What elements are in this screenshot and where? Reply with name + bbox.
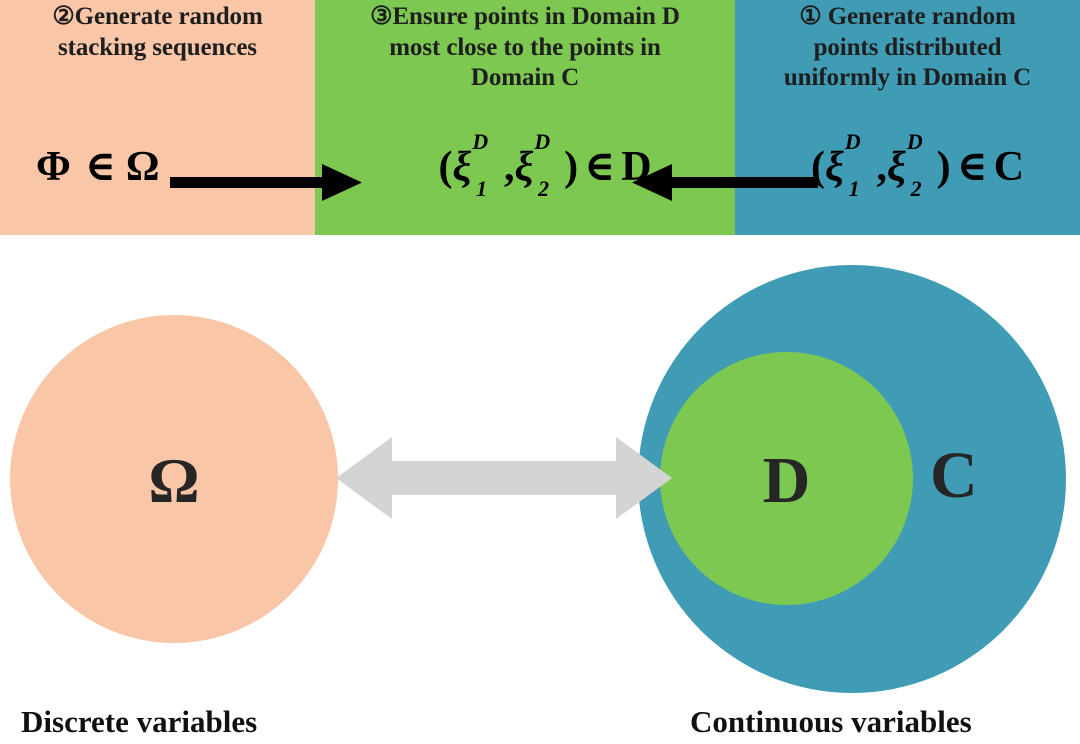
formula-d-xi-2-sub: 2 bbox=[538, 177, 549, 201]
panel-caption-domain-c-line1: ① Generate random bbox=[745, 2, 1070, 33]
circle-d-subdomain: D bbox=[660, 352, 913, 605]
formula-d-xi-2-glyph: ξ bbox=[515, 144, 534, 190]
panel-caption-omega: ②Generate random stacking sequences bbox=[0, 2, 315, 63]
formula-xi-in-c: (ξD1,ξD2)∈C bbox=[735, 146, 1080, 188]
circle-label-d: D bbox=[763, 448, 811, 514]
formula-c-member: ∈ bbox=[957, 144, 988, 190]
formula-c-xi-2-sub: 2 bbox=[911, 177, 922, 201]
panel-caption-domain-d-line3: Domain C bbox=[321, 63, 729, 94]
formula-phi-set: Ω bbox=[126, 144, 160, 190]
formula-c-comma: , bbox=[877, 144, 888, 190]
panel-generate-random-points: ① Generate random points distributed uni… bbox=[735, 0, 1080, 235]
panel-caption-domain-d-line1: ③Ensure points in Domain D bbox=[321, 2, 729, 33]
diagram-canvas: ②Generate random stacking sequences Φ∈Ω … bbox=[0, 0, 1080, 744]
formula-d-comma: , bbox=[504, 144, 515, 190]
formula-d-xi-1: ξD1 bbox=[452, 146, 498, 188]
panel-caption-domain-c-line2: points distributed bbox=[745, 33, 1070, 64]
formula-d-set: D bbox=[621, 144, 651, 190]
formula-xi-in-d: (ξD1,ξD2)∈D bbox=[315, 146, 735, 188]
formula-c-xi-1-sub: 1 bbox=[849, 177, 860, 201]
formula-d-xi-1-glyph: ξ bbox=[452, 144, 471, 190]
formula-c-open-paren: ( bbox=[811, 144, 825, 190]
panel-caption-domain-d-line2: most close to the points in bbox=[321, 33, 729, 64]
formula-d-xi-1-sub: 1 bbox=[476, 177, 487, 201]
panel-caption-domain-d: ③Ensure points in Domain D most close to… bbox=[315, 2, 735, 94]
formula-c-xi-1: ξD1 bbox=[825, 146, 871, 188]
formula-c-xi-2: ξD2 bbox=[887, 146, 933, 188]
formula-d-close-paren: ) bbox=[564, 144, 578, 190]
footer-label-discrete-variables: Discrete variables bbox=[21, 706, 257, 737]
footer-label-continuous-variables: Continuous variables bbox=[690, 706, 972, 737]
panel-caption-domain-c-line3: uniformly in Domain C bbox=[745, 63, 1070, 94]
panel-caption-domain-c: ① Generate random points distributed uni… bbox=[735, 2, 1080, 94]
formula-d-member: ∈ bbox=[584, 144, 615, 190]
panel-generate-stacking-sequences: ②Generate random stacking sequences Φ∈Ω bbox=[0, 0, 315, 235]
formula-phi-in-omega: Φ∈Ω bbox=[0, 146, 315, 188]
formula-d-open-paren: ( bbox=[438, 144, 452, 190]
formula-c-close-paren: ) bbox=[937, 144, 951, 190]
circle-omega-discrete: Ω bbox=[10, 315, 338, 643]
formula-phi-member: ∈ bbox=[85, 144, 116, 190]
formula-d-xi-2-sup: D bbox=[534, 130, 550, 154]
circle-label-omega: Ω bbox=[148, 449, 199, 513]
formula-c-xi-2-glyph: ξ bbox=[887, 144, 906, 190]
panel-caption-omega-line1: ②Generate random bbox=[8, 2, 307, 33]
formula-c-xi-1-sup: D bbox=[845, 130, 861, 154]
formula-c-xi-1-glyph: ξ bbox=[825, 144, 844, 190]
formula-d-xi-1-sup: D bbox=[472, 130, 488, 154]
formula-phi-symbol: Φ bbox=[36, 144, 71, 190]
panel-caption-omega-line2: stacking sequences bbox=[8, 33, 307, 64]
formula-c-set: C bbox=[994, 144, 1024, 190]
double-arrow-discrete-continuous-icon bbox=[336, 415, 672, 541]
circle-label-c: C bbox=[930, 443, 978, 509]
formula-c-xi-2-sup: D bbox=[907, 130, 923, 154]
process-banner: ②Generate random stacking sequences Φ∈Ω … bbox=[0, 0, 1080, 235]
formula-d-xi-2: ξD2 bbox=[515, 146, 561, 188]
panel-ensure-points-domain-d: ③Ensure points in Domain D most close to… bbox=[315, 0, 735, 235]
